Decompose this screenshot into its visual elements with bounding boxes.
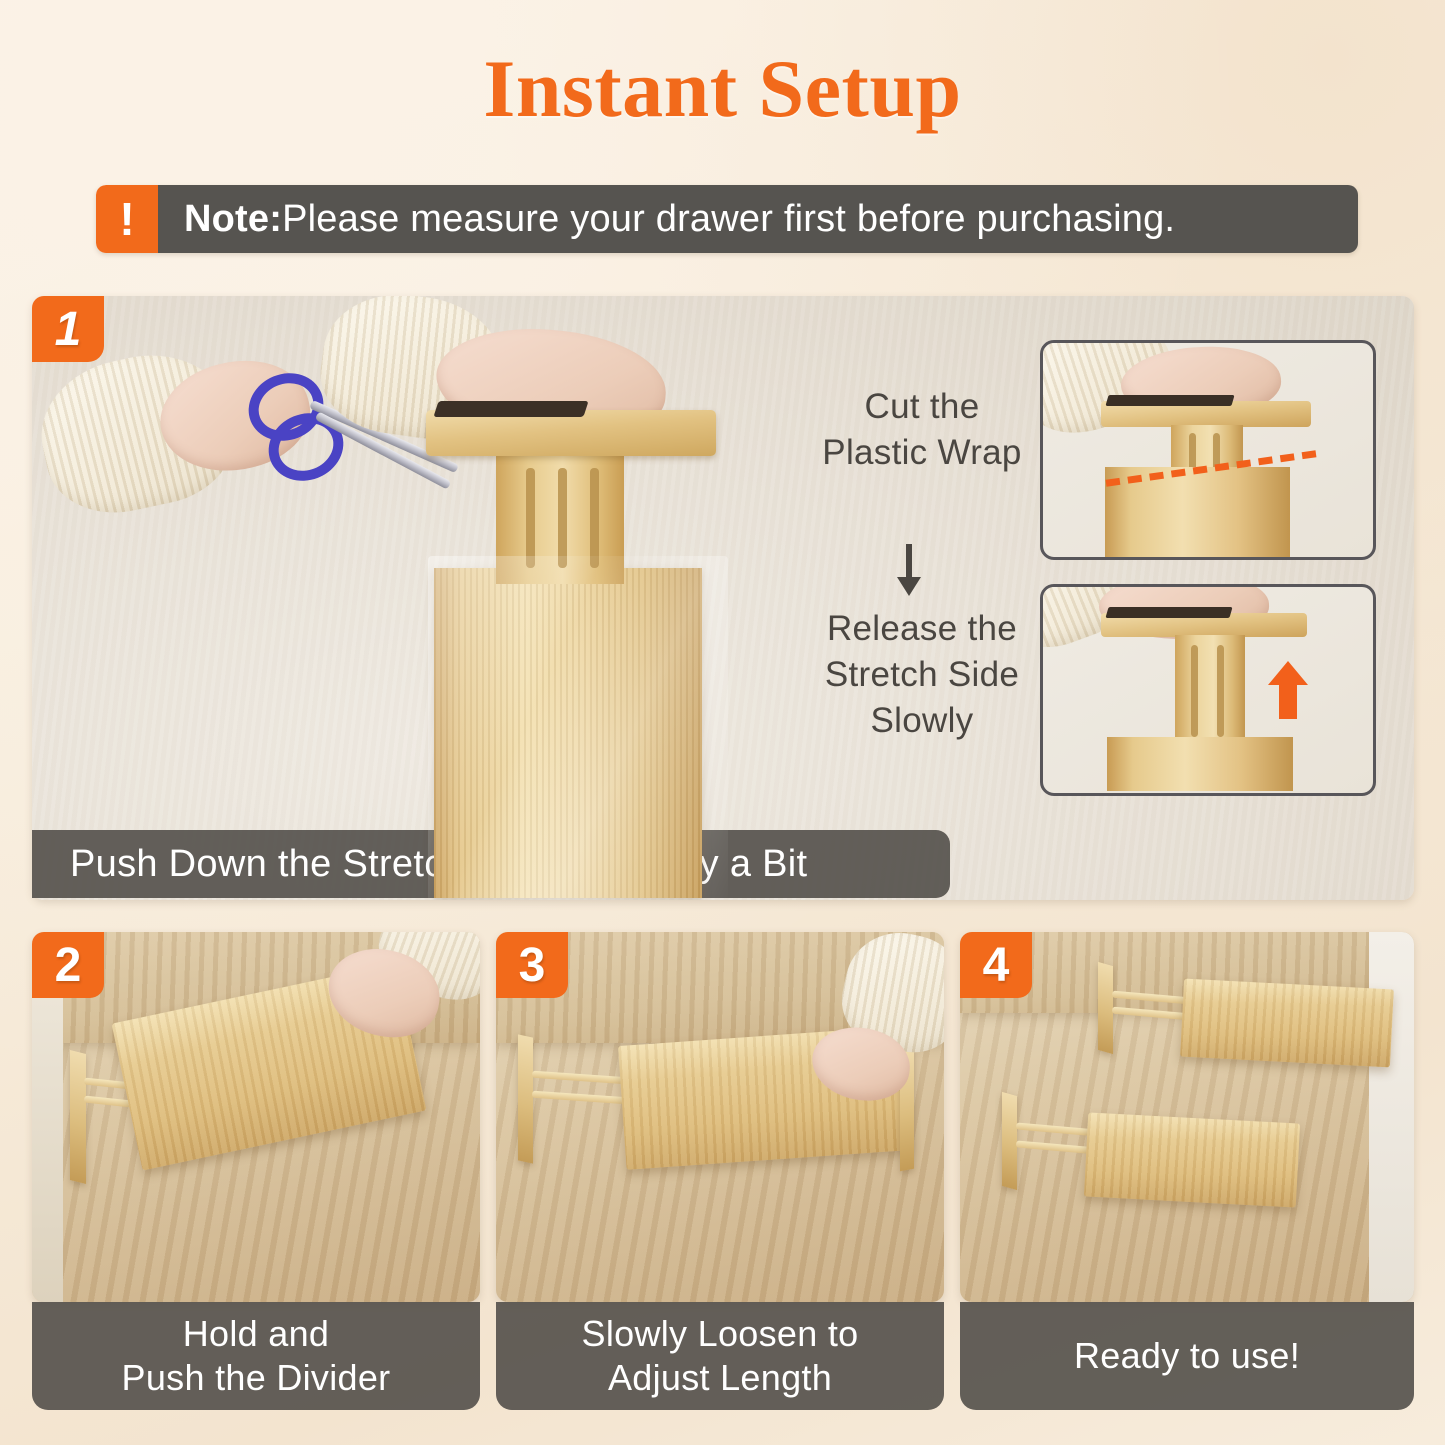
drawer-side-wall (1369, 932, 1414, 1302)
inset-divider-top (1101, 613, 1307, 637)
instruction-2-line-2: Stretch Side (767, 652, 1077, 698)
exclamation-icon: ! (96, 185, 158, 253)
step-3-caption: Slowly Loosen to Adjust Length (496, 1302, 944, 1410)
step-2-panel: 2 (32, 932, 480, 1302)
step-4-caption: Ready to use! (960, 1302, 1414, 1410)
divider-slot (590, 468, 599, 568)
step-1-instruction-1: Cut the Plastic Wrap (767, 384, 1077, 476)
note-prefix: Note: (184, 198, 282, 241)
divider-board (1084, 1113, 1300, 1208)
infographic-page: Instant Setup ! Note: Please measure you… (0, 0, 1445, 1445)
divider-slot (558, 468, 567, 568)
exclamation-glyph: ! (119, 196, 134, 242)
inset-slot (1217, 645, 1224, 737)
step-1-instruction-2: Release the Stretch Side Slowly (767, 606, 1077, 745)
instruction-2-line-3: Slowly (767, 698, 1077, 744)
divider-end-cap (1098, 962, 1113, 1054)
down-arrow-icon (894, 544, 924, 596)
step-3-badge: 3 (496, 932, 568, 998)
note-text: Note: Please measure your drawer first b… (158, 185, 1358, 253)
note-body: Please measure your drawer first before … (282, 198, 1175, 241)
instruction-1-line-1: Cut the (767, 384, 1077, 430)
step-2-caption: Hold and Push the Divider (32, 1302, 480, 1410)
divider-end-cap (70, 1050, 86, 1184)
inset-slot (1191, 645, 1198, 737)
step-3-caption-line-2: Adjust Length (582, 1356, 859, 1400)
step-2-caption-line-2: Push the Divider (122, 1356, 391, 1400)
divider-end-cap (1002, 1092, 1017, 1190)
divider-board (1180, 979, 1394, 1068)
step-1-product-illustration (392, 356, 722, 856)
step-4-badge: 4 (960, 932, 1032, 998)
divider-end-cap (518, 1034, 533, 1163)
inset-divider-board (1107, 737, 1293, 791)
divider-neck (496, 452, 624, 584)
divider-stretch-top (426, 410, 716, 456)
step-1-panel: Cut the Plastic Wrap Release the Stretch… (32, 296, 1414, 900)
divider-slot (526, 468, 535, 568)
step-3-panel: 3 (496, 932, 944, 1302)
instruction-1-line-2: Plastic Wrap (767, 430, 1077, 476)
instruction-2-line-1: Release the (767, 606, 1077, 652)
step-1-badge: 1 (32, 296, 104, 362)
step-2-caption-line-1: Hold and (122, 1312, 391, 1356)
step-1-inset-bottom (1040, 584, 1376, 796)
note-banner: ! Note: Please measure your drawer first… (96, 185, 1358, 253)
step-1-inset-top (1040, 340, 1376, 560)
step-2-badge: 2 (32, 932, 104, 998)
orange-up-arrow-icon (1267, 659, 1309, 721)
step-4-panel: 4 (960, 932, 1414, 1302)
page-title: Instant Setup (0, 42, 1445, 136)
step-4-caption-line-1: Ready to use! (1074, 1334, 1300, 1378)
inset-divider-neck (1175, 635, 1245, 745)
step-3-caption-line-1: Slowly Loosen to (582, 1312, 859, 1356)
divider-main-board (434, 568, 702, 898)
inset-divider-top (1101, 401, 1311, 427)
